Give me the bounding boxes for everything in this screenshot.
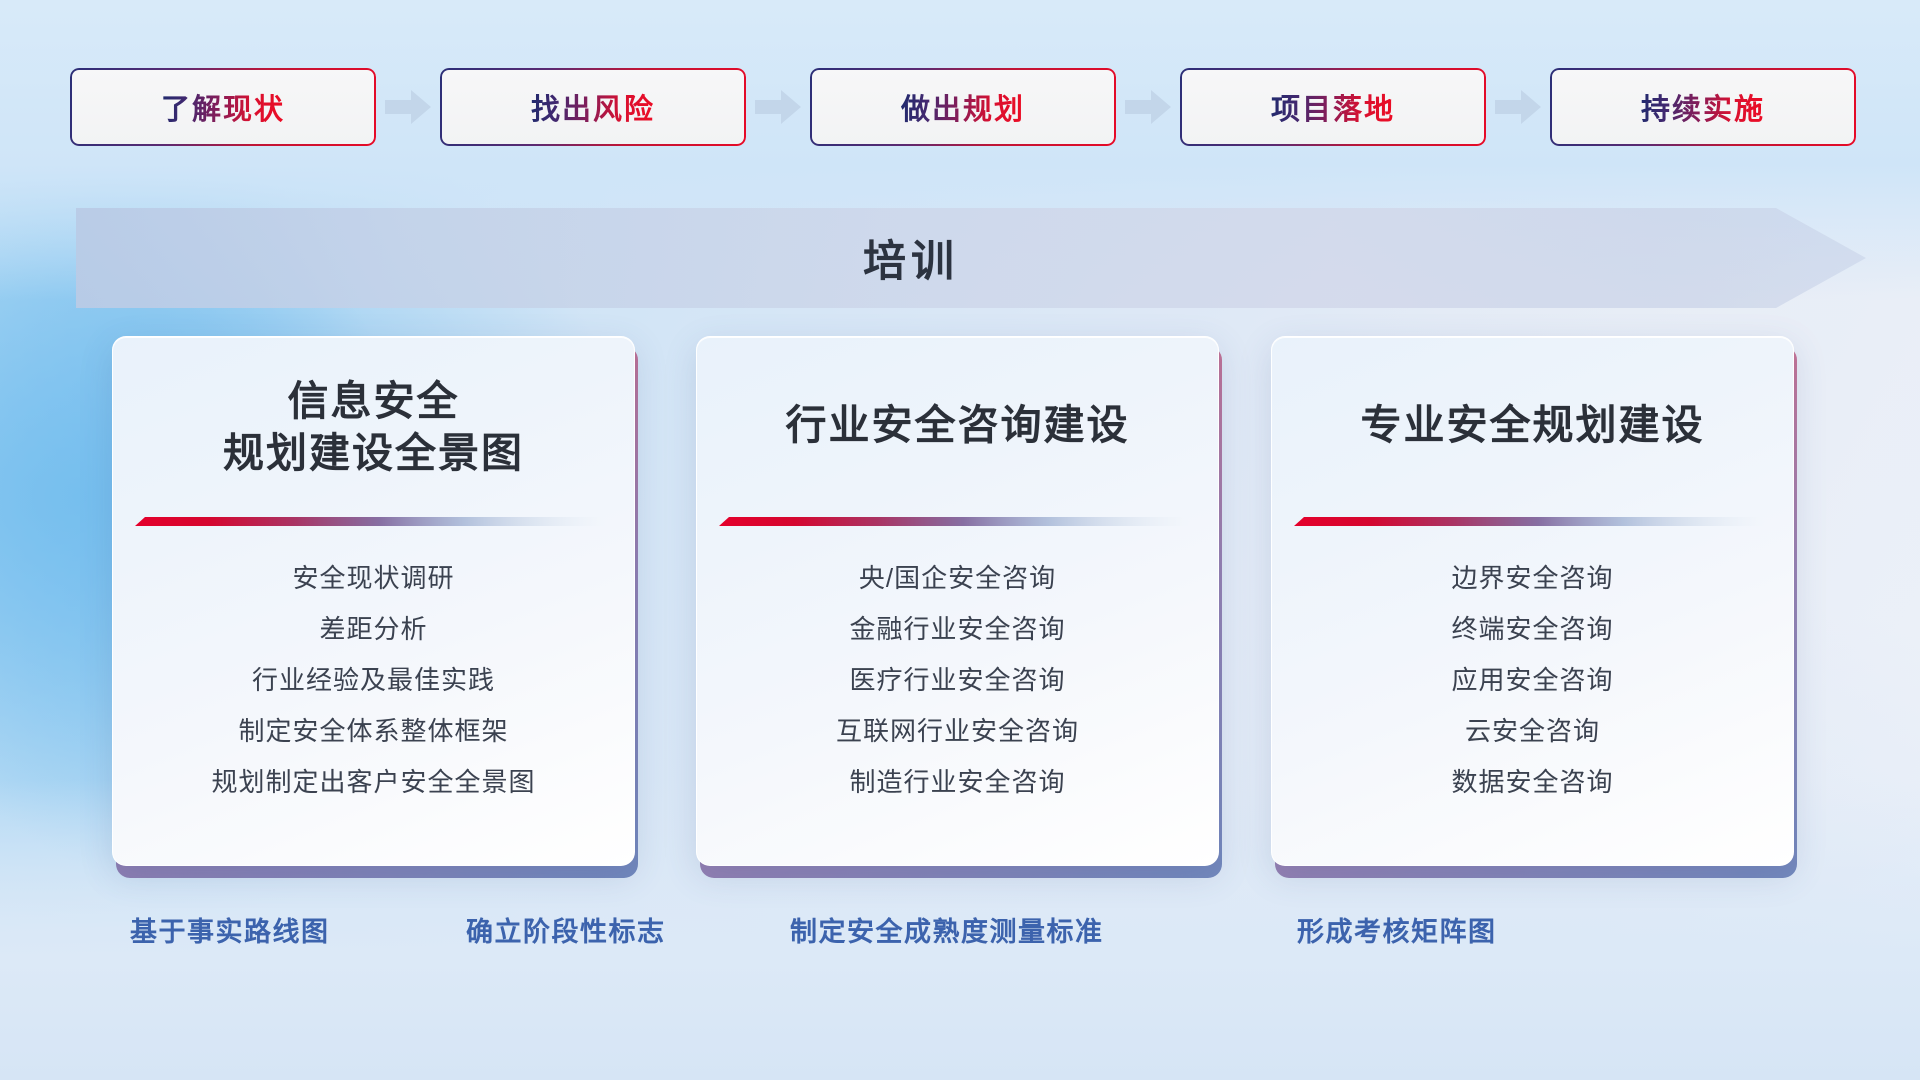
card-list-item: 数据安全咨询 — [1451, 757, 1613, 808]
card-list-item: 制定安全体系整体框架 — [238, 706, 508, 757]
card-title: 行业安全咨询建设 — [697, 399, 1218, 451]
outcome-caption: 基于事实路线图 — [130, 910, 330, 949]
card-list-item: 互联网行业安全咨询 — [836, 706, 1079, 757]
process-step-0[interactable]: 了解现状 — [70, 68, 376, 146]
card-title: 专业安全规划建设 — [1272, 399, 1793, 451]
card-list-item: 应用安全咨询 — [1451, 655, 1613, 706]
card-surface: 专业安全规划建设 — [1271, 336, 1794, 866]
card-list-item: 央/国企安全咨询 — [859, 553, 1056, 604]
card-list-item: 差距分析 — [319, 604, 427, 655]
step-arrow-icon-1 — [746, 68, 810, 146]
process-step-label: 做出规划 — [901, 86, 1025, 128]
process-step-1[interactable]: 找出风险 — [440, 68, 746, 146]
card-list-item: 安全现状调研 — [292, 553, 454, 604]
process-step-flow: 了解现状 找出风险 做出规划 项目落地 持续实施 — [70, 68, 1856, 146]
training-banner: 培训 — [76, 208, 1866, 308]
card-list-item: 金融行业安全咨询 — [849, 604, 1065, 655]
card-item-list: 安全现状调研 差距分析 行业经验及最佳实践 制定安全体系整体框架 规划制定出客户… — [113, 553, 634, 808]
card-list-item: 云安全咨询 — [1465, 706, 1600, 757]
card-list-item: 行业经验及最佳实践 — [252, 655, 495, 706]
card-item-list: 央/国企安全咨询 金融行业安全咨询 医疗行业安全咨询 互联网行业安全咨询 制造行… — [697, 553, 1218, 808]
capability-card-1[interactable]: 行业安全咨询建设 — [696, 336, 1226, 878]
card-divider-rule — [135, 515, 605, 529]
outcome-caption: 制定安全成熟度测量标准 — [790, 910, 1104, 949]
card-divider-rule — [1294, 515, 1764, 529]
capability-cards: 信息安全 规划建设全景图 — [0, 336, 1920, 878]
process-step-label: 了解现状 — [161, 86, 285, 128]
capability-card-2[interactable]: 专业安全规划建设 — [1271, 336, 1801, 878]
process-step-label: 找出风险 — [531, 86, 655, 128]
outcome-captions: 基于事实路线图 确立阶段性标志 制定安全成熟度测量标准 形成考核矩阵图 — [0, 910, 1920, 970]
outcome-caption: 确立阶段性标志 — [466, 910, 666, 949]
card-title: 信息安全 规划建设全景图 — [113, 375, 634, 480]
process-step-2[interactable]: 做出规划 — [810, 68, 1116, 146]
process-step-label: 项目落地 — [1271, 86, 1395, 128]
card-list-item: 医疗行业安全咨询 — [849, 655, 1065, 706]
step-arrow-icon-3 — [1486, 68, 1550, 146]
step-arrow-icon-2 — [1116, 68, 1180, 146]
capability-card-0[interactable]: 信息安全 规划建设全景图 — [112, 336, 642, 878]
card-divider-rule — [719, 515, 1189, 529]
training-banner-label: 培训 — [16, 208, 1806, 308]
outcome-caption: 形成考核矩阵图 — [1297, 910, 1497, 949]
card-list-item: 边界安全咨询 — [1451, 553, 1613, 604]
process-step-3[interactable]: 项目落地 — [1180, 68, 1486, 146]
card-surface: 行业安全咨询建设 — [696, 336, 1219, 866]
card-list-item: 终端安全咨询 — [1451, 604, 1613, 655]
card-item-list: 边界安全咨询 终端安全咨询 应用安全咨询 云安全咨询 数据安全咨询 — [1272, 553, 1793, 808]
step-arrow-icon-0 — [376, 68, 440, 146]
card-surface: 信息安全 规划建设全景图 — [112, 336, 635, 866]
process-step-label: 持续实施 — [1641, 86, 1765, 128]
process-step-4[interactable]: 持续实施 — [1550, 68, 1856, 146]
card-list-item: 规划制定出客户安全全景图 — [211, 757, 535, 808]
card-list-item: 制造行业安全咨询 — [849, 757, 1065, 808]
